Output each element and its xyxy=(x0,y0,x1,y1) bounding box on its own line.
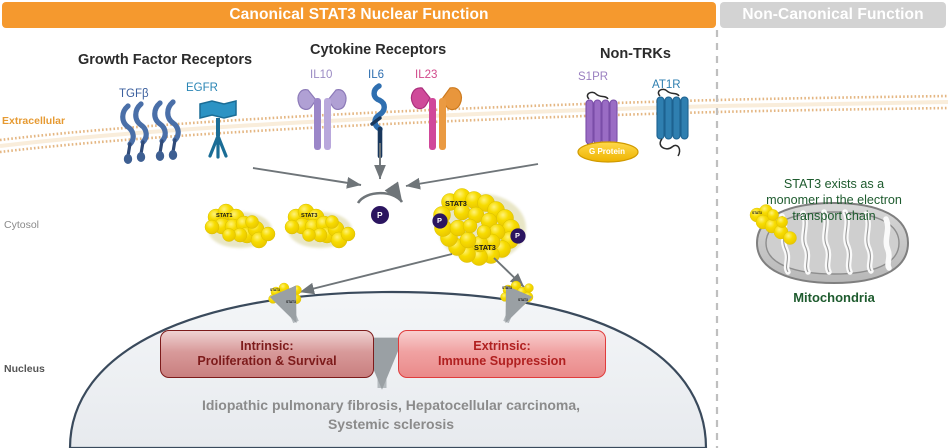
receptor-at1r xyxy=(657,89,688,156)
disease-line-1: Idiopathic pulmonary fibrosis, Hepatocel… xyxy=(136,396,646,415)
label-stat3-dimer-bottom: STAT3 xyxy=(474,243,496,252)
disease-outcomes: Idiopathic pulmonary fibrosis, Hepatocel… xyxy=(136,396,646,435)
label-stat3-entering-right-b: STAT3 xyxy=(518,298,528,302)
diagram-canvas: Canonical STAT3 Nuclear Function Non-Can… xyxy=(0,0,948,448)
receptor-il6 xyxy=(372,86,384,156)
phosphate-dimer-label-left: P xyxy=(437,216,442,225)
non-canonical-caption-line-2: monomer in the electron xyxy=(735,192,933,208)
non-canonical-caption-line-3: transport chain xyxy=(735,208,933,224)
phosphate-hub-label: P xyxy=(377,210,383,220)
non-canonical-caption: STAT3 exists as a monomer in the electro… xyxy=(735,176,933,224)
outcome-intrinsic-subtitle: Proliferation & Survival xyxy=(197,354,336,369)
organelle-label-mitochondria: Mitochondria xyxy=(735,290,933,305)
disease-line-2: Systemic sclerosis xyxy=(136,415,646,434)
signal-arrows xyxy=(253,143,538,186)
label-stat3-entering-right-a: STAT3 xyxy=(502,286,512,290)
label-g-protein: G Protein xyxy=(589,147,625,156)
label-stat3-entering-left-a: STAT3 xyxy=(270,288,280,292)
outcome-box-intrinsic: Intrinsic: Proliferation & Survival xyxy=(160,330,374,378)
non-canonical-caption-line-1: STAT3 exists as a xyxy=(735,176,933,192)
outcome-extrinsic-subtitle: Immune Suppression xyxy=(438,354,566,369)
label-stat3-monomer: STAT3 xyxy=(301,213,317,219)
outcome-box-extrinsic: Extrinsic: Immune Suppression xyxy=(398,330,606,378)
molecule-stat1 xyxy=(205,204,275,248)
label-stat3-entering-left-b: STAT3 xyxy=(286,300,296,304)
phosphate-dimer-label-right: P xyxy=(515,231,520,240)
molecule-stat3-monomer xyxy=(285,204,355,248)
receptor-il23 xyxy=(411,88,461,150)
outcome-intrinsic-title: Intrinsic: xyxy=(240,339,293,354)
outcome-extrinsic-title: Extrinsic: xyxy=(473,339,530,354)
label-stat1-monomer: STAT1 xyxy=(216,213,232,219)
label-stat3-dimer-top: STAT3 xyxy=(445,199,467,208)
